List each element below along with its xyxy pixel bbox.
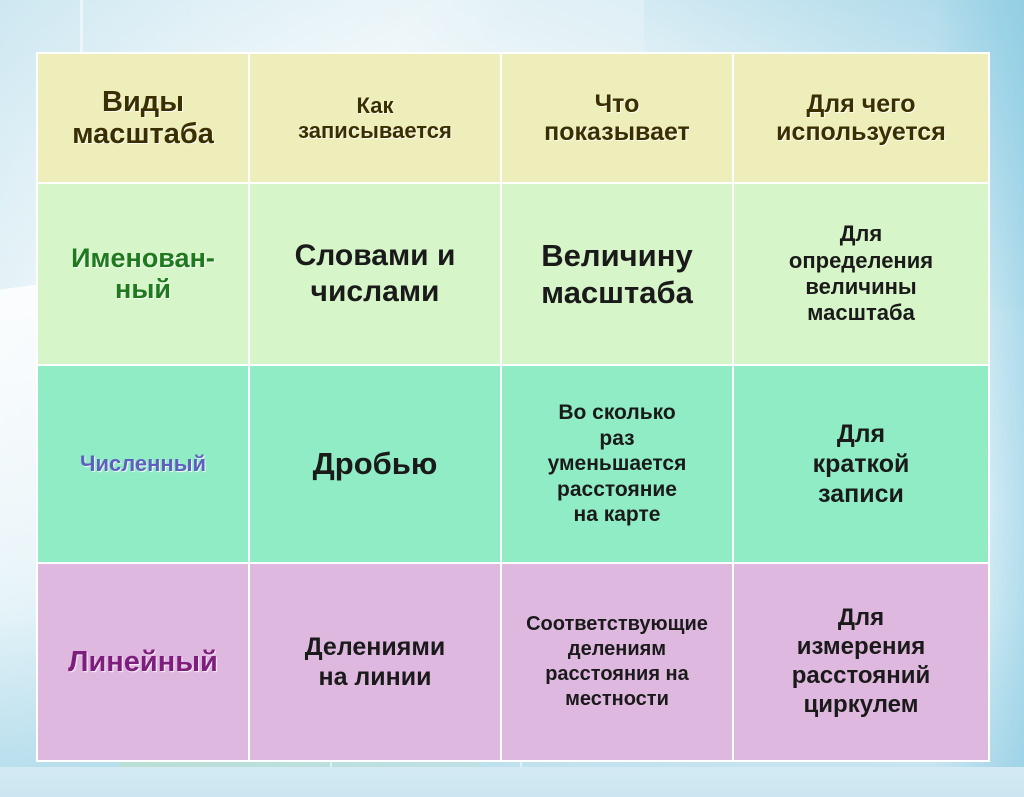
cell-text-linear-scale-shows: Соответствующие делениям расстояния на м… [508, 612, 726, 712]
row-linear-scale-shows: Соответствующие делениям расстояния на м… [501, 563, 733, 761]
header-cell-what-used-for: Для чего используется [733, 53, 989, 183]
cell-text-linear-scale-use: Для измерения расстояний циркулем [740, 604, 982, 719]
scale-types-table-wrapper: Виды масштаба Как записывается Что показ… [36, 52, 988, 762]
row-numeric-scale-use: Для краткой записи [733, 365, 989, 563]
background-streak-1 [80, 0, 83, 52]
cell-text-linear-scale-name: Линейный [44, 646, 242, 679]
row-named-scale-how: Словами и числами [249, 183, 501, 365]
header-text-what-shows: Что показывает [508, 90, 726, 147]
table-row: Численный Дробью Во сколько раз уменьшае… [37, 365, 989, 563]
cell-text-named-scale-name: Именован- ный [44, 243, 242, 305]
table-row: Линейный Делениями на линии Соответствую… [37, 563, 989, 761]
cell-text-named-scale-use: Для определения величины масштаба [740, 221, 982, 327]
row-linear-scale-how: Делениями на линии [249, 563, 501, 761]
cell-text-numeric-scale-shows: Во сколько раз уменьшается расстояние на… [508, 400, 726, 528]
cell-text-numeric-scale-how: Дробью [256, 446, 494, 482]
header-text-what-used-for: Для чего используется [740, 90, 982, 147]
header-cell-scale-types: Виды масштаба [37, 53, 249, 183]
cell-text-numeric-scale-name: Численный [44, 451, 242, 477]
row-linear-scale-use: Для измерения расстояний циркулем [733, 563, 989, 761]
row-numeric-scale-how: Дробью [249, 365, 501, 563]
header-cell-what-shows: Что показывает [501, 53, 733, 183]
row-linear-scale-name: Линейный [37, 563, 249, 761]
row-numeric-scale-shows: Во сколько раз уменьшается расстояние на… [501, 365, 733, 563]
header-cell-how-written: Как записывается [249, 53, 501, 183]
cell-text-named-scale-how: Словами и числами [256, 238, 494, 310]
row-named-scale-use: Для определения величины масштаба [733, 183, 989, 365]
header-text-scale-types: Виды масштаба [44, 86, 242, 151]
cell-text-linear-scale-how: Делениями на линии [256, 632, 494, 692]
row-named-scale-name: Именован- ный [37, 183, 249, 365]
scale-types-table: Виды масштаба Как записывается Что показ… [36, 52, 990, 762]
slide-canvas: Виды масштаба Как записывается Что показ… [0, 0, 1024, 767]
cell-text-named-scale-shows: Величину масштаба [508, 237, 726, 311]
table-header-row: Виды масштаба Как записывается Что показ… [37, 53, 989, 183]
cell-text-numeric-scale-use: Для краткой записи [740, 419, 982, 509]
row-named-scale-shows: Величину масштаба [501, 183, 733, 365]
header-text-how-written: Как записывается [256, 93, 494, 143]
row-numeric-scale-name: Численный [37, 365, 249, 563]
table-row: Именован- ный Словами и числами Величину… [37, 183, 989, 365]
